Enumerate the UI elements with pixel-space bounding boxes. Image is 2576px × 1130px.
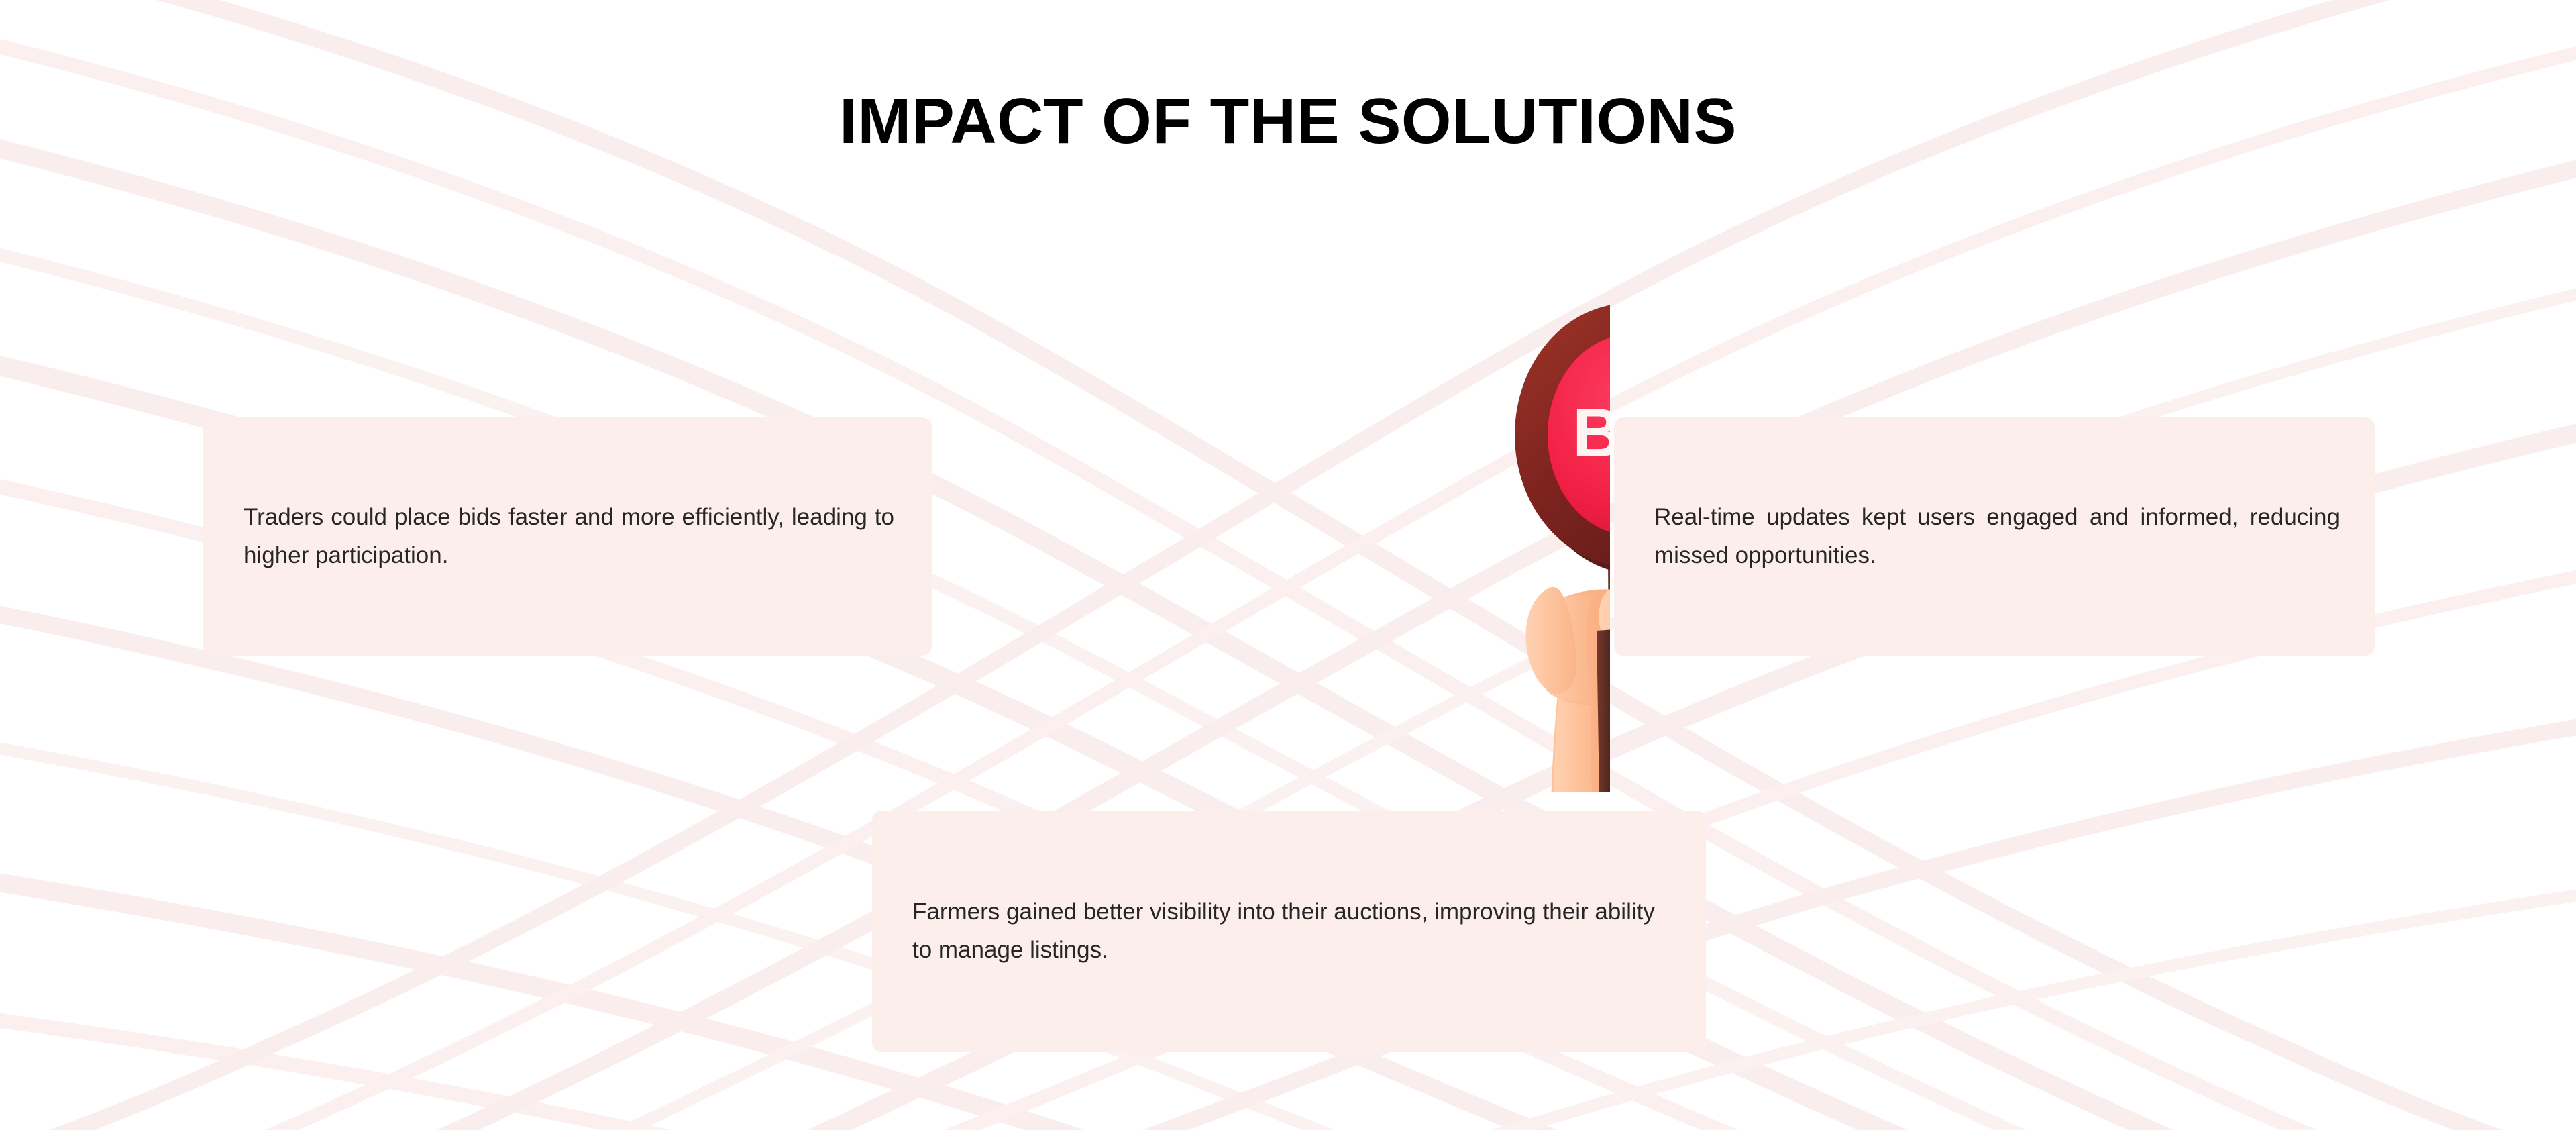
page-title: IMPACT OF THE SOLUTIONS — [0, 86, 2576, 157]
impact-card-bottom-text: Farmers gained better visibility into th… — [912, 893, 1666, 969]
impact-card-right: Real-time updates kept users engaged and… — [1614, 417, 2375, 656]
impact-card-right-text: Real-time updates kept users engaged and… — [1654, 499, 2340, 574]
bid-paddle-label: BID — [1572, 395, 1610, 471]
hand-holding-paddle — [1525, 587, 1610, 792]
impact-card-bottom: Farmers gained better visibility into th… — [872, 811, 1706, 1052]
illustration-bid-paddle-money: BID — [1006, 255, 1610, 792]
impact-card-left-text: Traders could place bids faster and more… — [244, 499, 894, 574]
impact-card-left: Traders could place bids faster and more… — [203, 417, 932, 656]
slide-root: IMPACT OF THE SOLUTIONS — [0, 0, 2576, 1130]
